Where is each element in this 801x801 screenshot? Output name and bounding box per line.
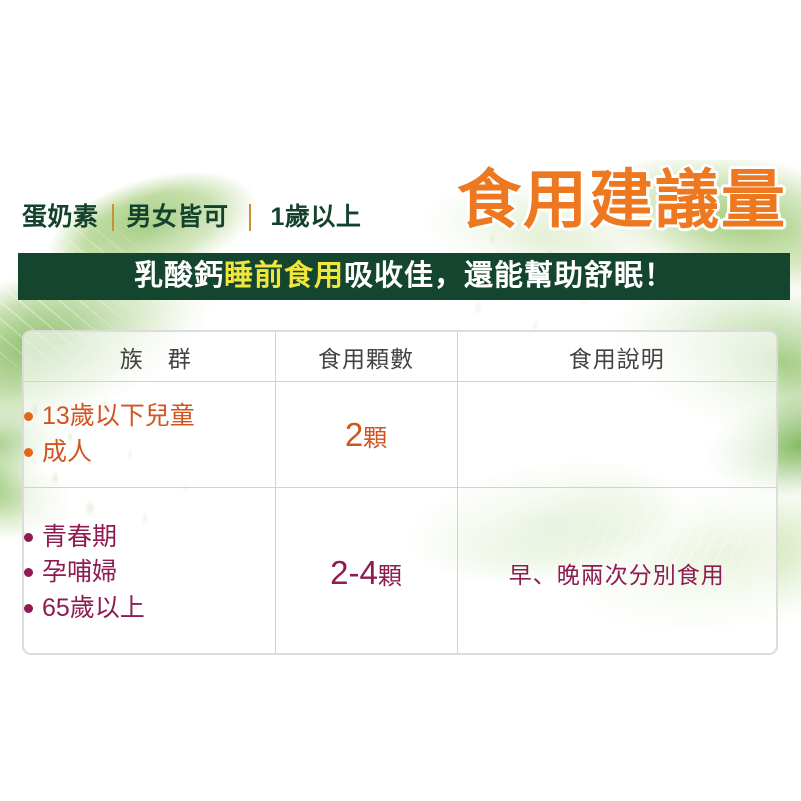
table-row: 13歲以下兒童 成人 2顆 bbox=[24, 382, 776, 488]
banner-text-highlight: 睡前食用 bbox=[224, 260, 344, 292]
dosage-note: 早、晚兩次分別食用 bbox=[509, 562, 725, 588]
list-item: 65歲以上 bbox=[24, 591, 275, 627]
dosage-amount: 2-4顆 bbox=[330, 563, 402, 590]
promo-page: 蛋奶素 男女皆可 1歲以上 食用建議量 乳酸鈣睡前食用吸收佳，還能幫助舒眠！ 族… bbox=[0, 0, 801, 801]
list-item: 孕哺婦 bbox=[24, 555, 275, 591]
list-item-label: 65歲以上 bbox=[42, 591, 145, 627]
row1-count-cell: 2顆 bbox=[275, 382, 457, 488]
row1-note-cell bbox=[457, 382, 776, 488]
list-item-label: 成人 bbox=[42, 435, 92, 471]
tagline-separator-icon-2 bbox=[249, 204, 251, 231]
dosage-number: 2 bbox=[345, 416, 363, 453]
column-header-group: 族 群 bbox=[24, 332, 275, 382]
bottom-white-band bbox=[0, 743, 801, 801]
row1-group-cell: 13歲以下兒童 成人 bbox=[24, 382, 275, 488]
dosage-table: 族 群 食用顆數 食用說明 13歲以下兒童 成人 bbox=[22, 330, 778, 655]
tagline-item-diet: 蛋奶素 bbox=[22, 205, 99, 230]
banner-text-before: 乳酸鈣 bbox=[134, 260, 224, 292]
tagline-item-gender: 男女皆可 bbox=[127, 205, 229, 230]
page-title: 食用建議量 bbox=[457, 168, 787, 232]
list-item: 13歲以下兒童 bbox=[24, 399, 275, 435]
dosage-number: 2-4 bbox=[330, 554, 378, 591]
dosage-unit: 顆 bbox=[363, 425, 387, 452]
banner-text-after: 吸收佳，還能幫助舒眠！ bbox=[344, 260, 674, 292]
banner-text: 乳酸鈣睡前食用吸收佳，還能幫助舒眠！ bbox=[134, 262, 674, 291]
green-banner: 乳酸鈣睡前食用吸收佳，還能幫助舒眠！ bbox=[18, 253, 790, 300]
table-row: 青春期 孕哺婦 65歲以上 2-4顆 bbox=[24, 488, 776, 656]
table-header-row: 族 群 食用顆數 食用說明 bbox=[24, 332, 776, 382]
bullet-dot-icon bbox=[24, 412, 33, 421]
list-item-label: 13歲以下兒童 bbox=[42, 399, 195, 435]
tagline-group: 蛋奶素 男女皆可 1歲以上 bbox=[22, 204, 361, 231]
dosage-amount: 2顆 bbox=[345, 425, 387, 452]
list-item-label: 青春期 bbox=[42, 520, 117, 556]
tagline-item-age: 1歲以上 bbox=[271, 205, 362, 230]
list-item: 成人 bbox=[24, 435, 275, 471]
top-white-band bbox=[0, 0, 801, 160]
bullet-dot-icon bbox=[24, 448, 33, 457]
tagline-separator-icon bbox=[112, 204, 114, 231]
bullet-dot-icon bbox=[24, 568, 33, 577]
list-item-label: 孕哺婦 bbox=[42, 555, 117, 591]
bullet-dot-icon bbox=[24, 533, 33, 542]
row2-note-cell: 早、晚兩次分別食用 bbox=[457, 488, 776, 656]
row2-group-cell: 青春期 孕哺婦 65歲以上 bbox=[24, 488, 275, 656]
column-header-count: 食用顆數 bbox=[275, 332, 457, 382]
row2-count-cell: 2-4顆 bbox=[275, 488, 457, 656]
list-item: 青春期 bbox=[24, 520, 275, 556]
dosage-unit: 顆 bbox=[378, 563, 402, 590]
bullet-dot-icon bbox=[24, 604, 33, 613]
column-header-note: 食用說明 bbox=[457, 332, 776, 382]
